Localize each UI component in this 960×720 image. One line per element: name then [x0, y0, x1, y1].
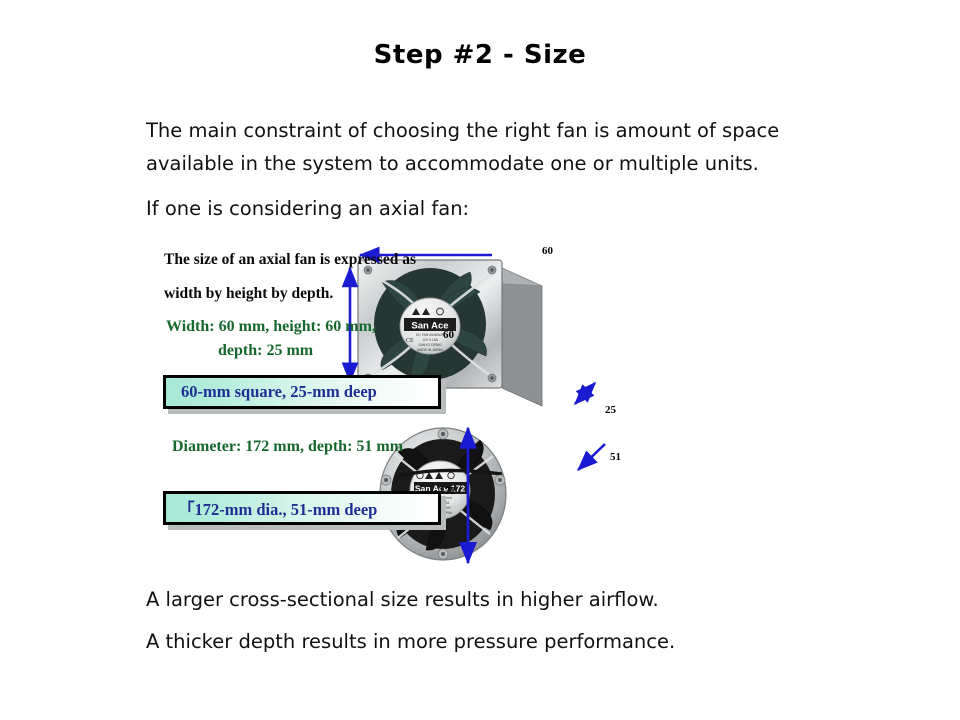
figure-heading-line-2: width by height by depth. [164, 285, 333, 303]
dimension-label-round-diameter: 172 [439, 485, 456, 497]
axial-fan-lead-in-line: If one is considering an axial fan: [146, 197, 469, 220]
dimension-label-square-height: 60 [443, 329, 454, 341]
axial-fan-size-figure: San Ace DC FAN 60x60x25 12V 0.18A SANYO … [150, 238, 660, 578]
dimension-label-round-depth: 51 [610, 451, 621, 463]
dimension-label-square-width: 60 [542, 245, 553, 257]
svg-text:DC FAN 60x60x25: DC FAN 60x60x25 [416, 333, 444, 337]
svg-text:MADE IN JAPAN: MADE IN JAPAN [417, 348, 443, 352]
round-fan-spec-line: Diameter: 172 mm, depth: 51 mm [172, 438, 403, 456]
outro-paragraph-line-2: A thicker depth results in more pressure… [146, 630, 675, 653]
callout-square-fan: 60-mm square, 25-mm deep [163, 375, 441, 409]
svg-text:12V 0.18A: 12V 0.18A [422, 338, 439, 342]
svg-text:SANYO DENKI: SANYO DENKI [418, 343, 441, 347]
dimension-label-square-depth: 25 [605, 404, 616, 416]
square-fan-spec-line-1: Width: 60 mm, height: 60 mm, [166, 318, 376, 336]
figure-heading-line-1: The size of an axial fan is expressed as [164, 251, 416, 269]
square-fan-spec-line-2: depth: 25 mm [218, 342, 313, 360]
svg-text:CE: CE [406, 338, 414, 344]
callout-round-fan-label: 「172-mm dia., 51-mm deep [166, 494, 450, 522]
callout-square-fan-label: 60-mm square, 25-mm deep [166, 378, 453, 406]
intro-paragraph-line-2: available in the system to accommodate o… [146, 152, 759, 175]
page-title: Step #2 - Size [0, 40, 960, 70]
outro-paragraph-line-1: A larger cross-sectional size results in… [146, 588, 659, 611]
callout-round-fan: 「172-mm dia., 51-mm deep [163, 491, 441, 525]
intro-paragraph-line-1: The main constraint of choosing the righ… [146, 119, 779, 142]
